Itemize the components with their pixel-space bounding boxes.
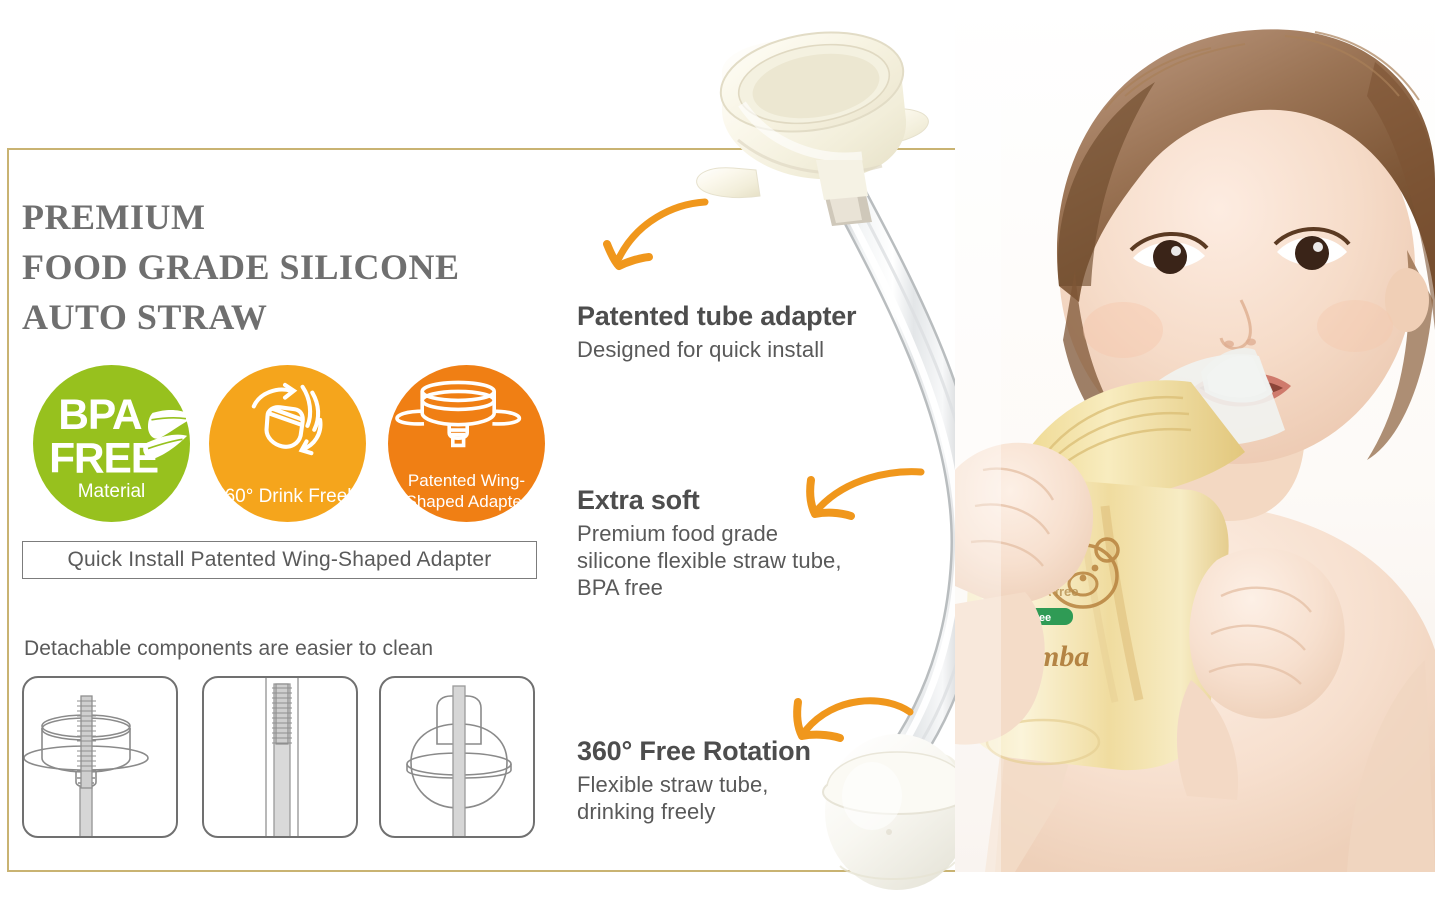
baby-drinking-from-bottle-photo: BPA free free Simba xyxy=(955,0,1435,872)
bpa-free-leaf-icon: BPA FREE xyxy=(33,383,214,475)
feature-0-body: Designed for quick install xyxy=(577,336,957,363)
badge-360-drink-freely: 360° Drink Freely xyxy=(209,365,366,522)
feature-badge-row: BPA FREE BPA FREE Material xyxy=(31,365,551,525)
detachable-components-label: Detachable components are easier to clea… xyxy=(24,637,433,661)
detachable-components-row xyxy=(22,676,542,838)
infographic-canvas: PREMIUM FOOD GRADE SILICONE AUTO STRAW B… xyxy=(0,0,1435,907)
badge-bpa-free-main-text: BPA FREE xyxy=(112,365,113,366)
weight-ball-diagram-icon xyxy=(381,678,535,838)
badge-wing-adapter: Patented Wing-Shaped Adapter xyxy=(388,365,545,522)
page-title-line-3: AUTO STRAW xyxy=(22,292,552,342)
curved-arrow-down-left-icon-2 xyxy=(795,466,925,536)
curved-arrow-down-left-icon-3 xyxy=(780,690,915,760)
badge-wing-adapter-caption: Patented Wing-Shaped Adapter xyxy=(392,470,541,512)
curved-arrow-down-left-icon-1 xyxy=(595,196,715,286)
component-box-straw-tube xyxy=(202,676,358,838)
component-box-weight-ball xyxy=(379,676,535,838)
quick-install-note-label: Quick Install Patented Wing-Shaped Adapt… xyxy=(68,548,492,572)
wing-adapter-icon xyxy=(388,377,529,449)
svg-text:FREE: FREE xyxy=(49,435,158,475)
page-title-line-2: FOOD GRADE SILICONE xyxy=(22,242,552,292)
rotating-cap-icon xyxy=(209,381,362,459)
feature-patented-tube-adapter: Patented tube adapter Designed for quick… xyxy=(577,300,957,363)
feature-2-body: Flexible straw tube, drinking freely xyxy=(577,771,907,825)
quick-install-note-box: Quick Install Patented Wing-Shaped Adapt… xyxy=(22,541,537,579)
straw-tube-diagram-icon xyxy=(204,678,358,838)
svg-text:BPA: BPA xyxy=(58,391,142,439)
feature-0-title: Patented tube adapter xyxy=(577,300,957,332)
badge-bpa-free-caption: Material xyxy=(37,482,186,502)
page-title-line-1: PREMIUM xyxy=(22,192,552,242)
cap-adapter-diagram-icon xyxy=(24,678,178,838)
badge-bpa-free: BPA FREE BPA FREE Material xyxy=(33,365,190,522)
badge-360-caption: 360° Drink Freely xyxy=(213,485,362,508)
left-column: PREMIUM FOOD GRADE SILICONE AUTO STRAW xyxy=(22,192,552,342)
component-box-cap-adapter xyxy=(22,676,178,838)
